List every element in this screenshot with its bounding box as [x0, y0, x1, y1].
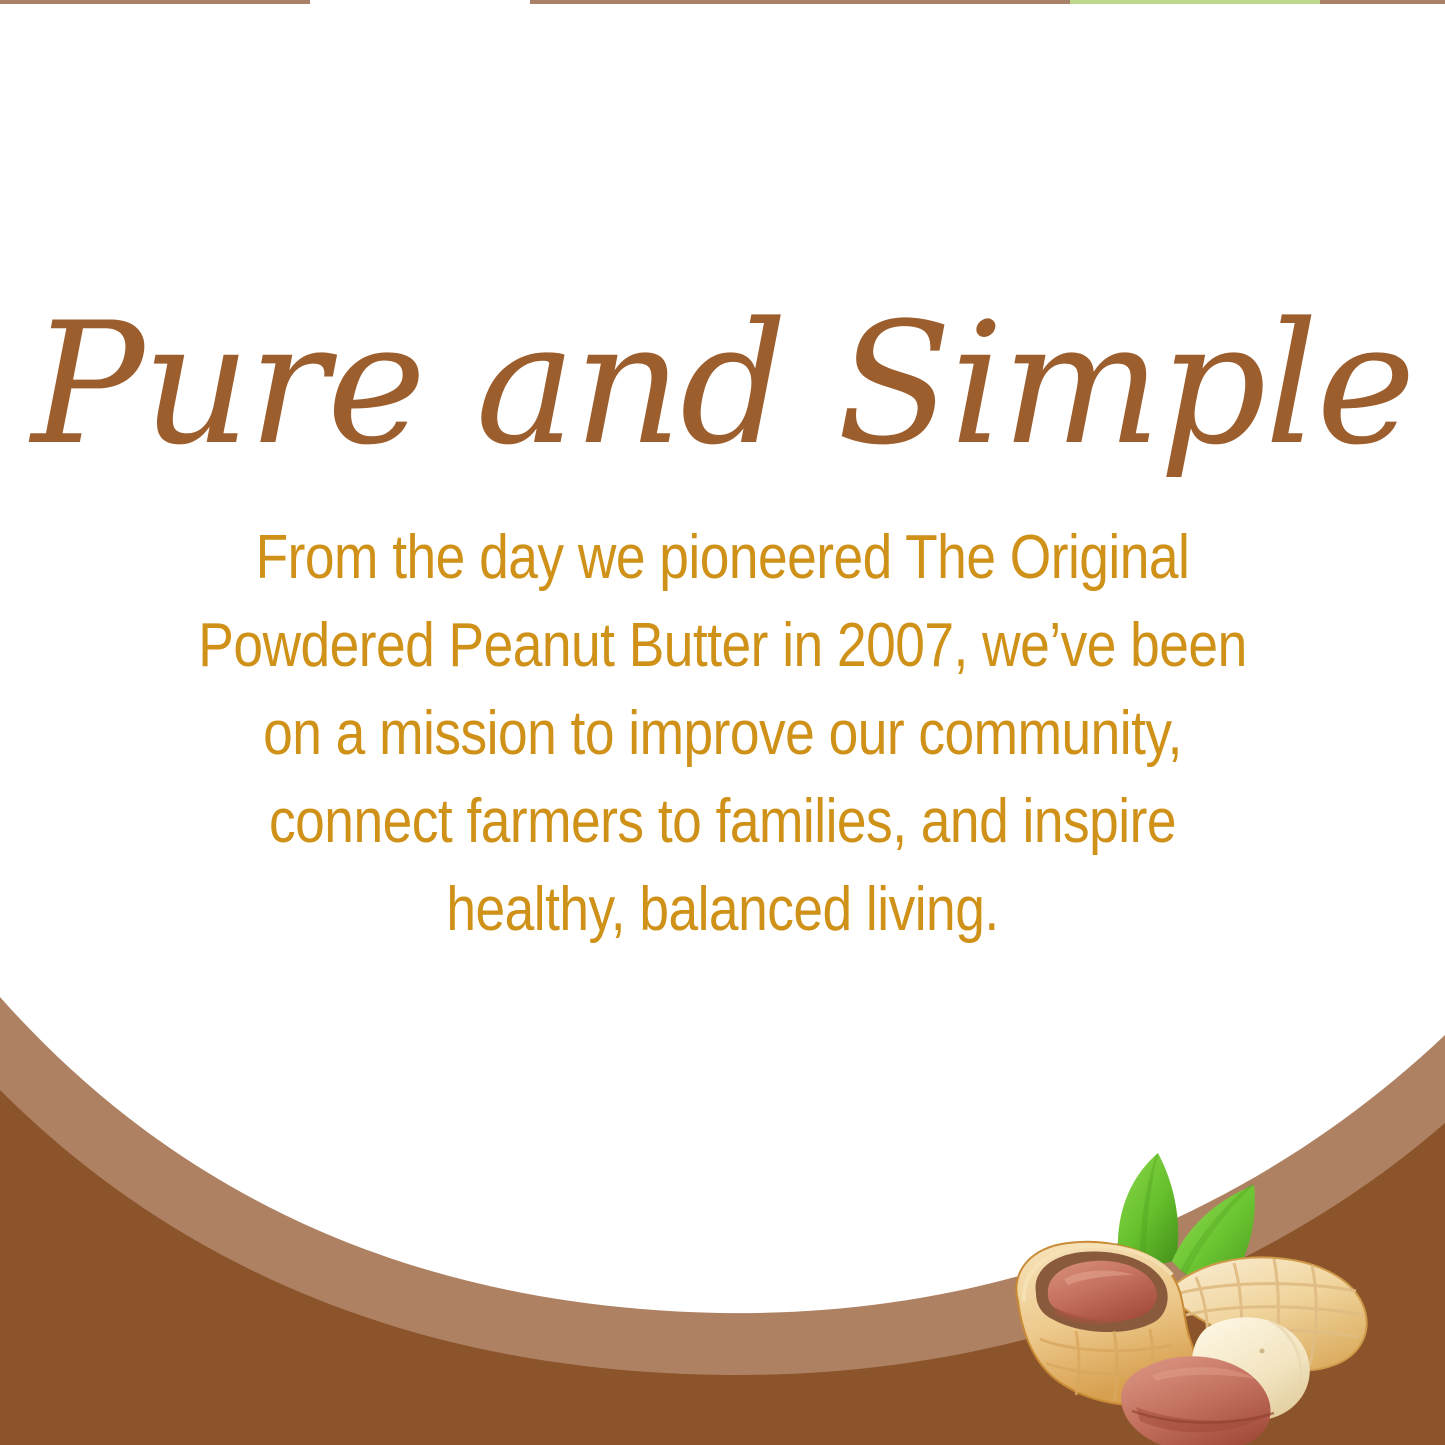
body-line-5: healthy, balanced living. — [101, 866, 1344, 954]
peanut-illustration — [990, 1125, 1410, 1445]
top-strip-segment-green — [1070, 0, 1320, 4]
top-strip-segment-brown-mid — [530, 0, 1070, 4]
body-line-1: From the day we pioneered The Original — [101, 514, 1344, 602]
top-strip-segment-brown-right — [1320, 0, 1445, 4]
body-line-4: connect farmers to families, and inspire — [101, 778, 1344, 866]
body-line-2: Powdered Peanut Butter in 2007, we’ve be… — [101, 602, 1344, 690]
page-title: Pure and Simple — [0, 0, 1445, 468]
promo-panel: Pure and Simple From the day we pioneere… — [0, 0, 1445, 1445]
body-paragraph: From the day we pioneered The Original P… — [101, 468, 1344, 954]
body-line-3: on a mission to improve our community, — [101, 690, 1344, 778]
text-content: Pure and Simple From the day we pioneere… — [0, 0, 1445, 954]
top-strip-segment-brown-left — [0, 0, 310, 4]
top-edge-strip — [0, 0, 1445, 4]
